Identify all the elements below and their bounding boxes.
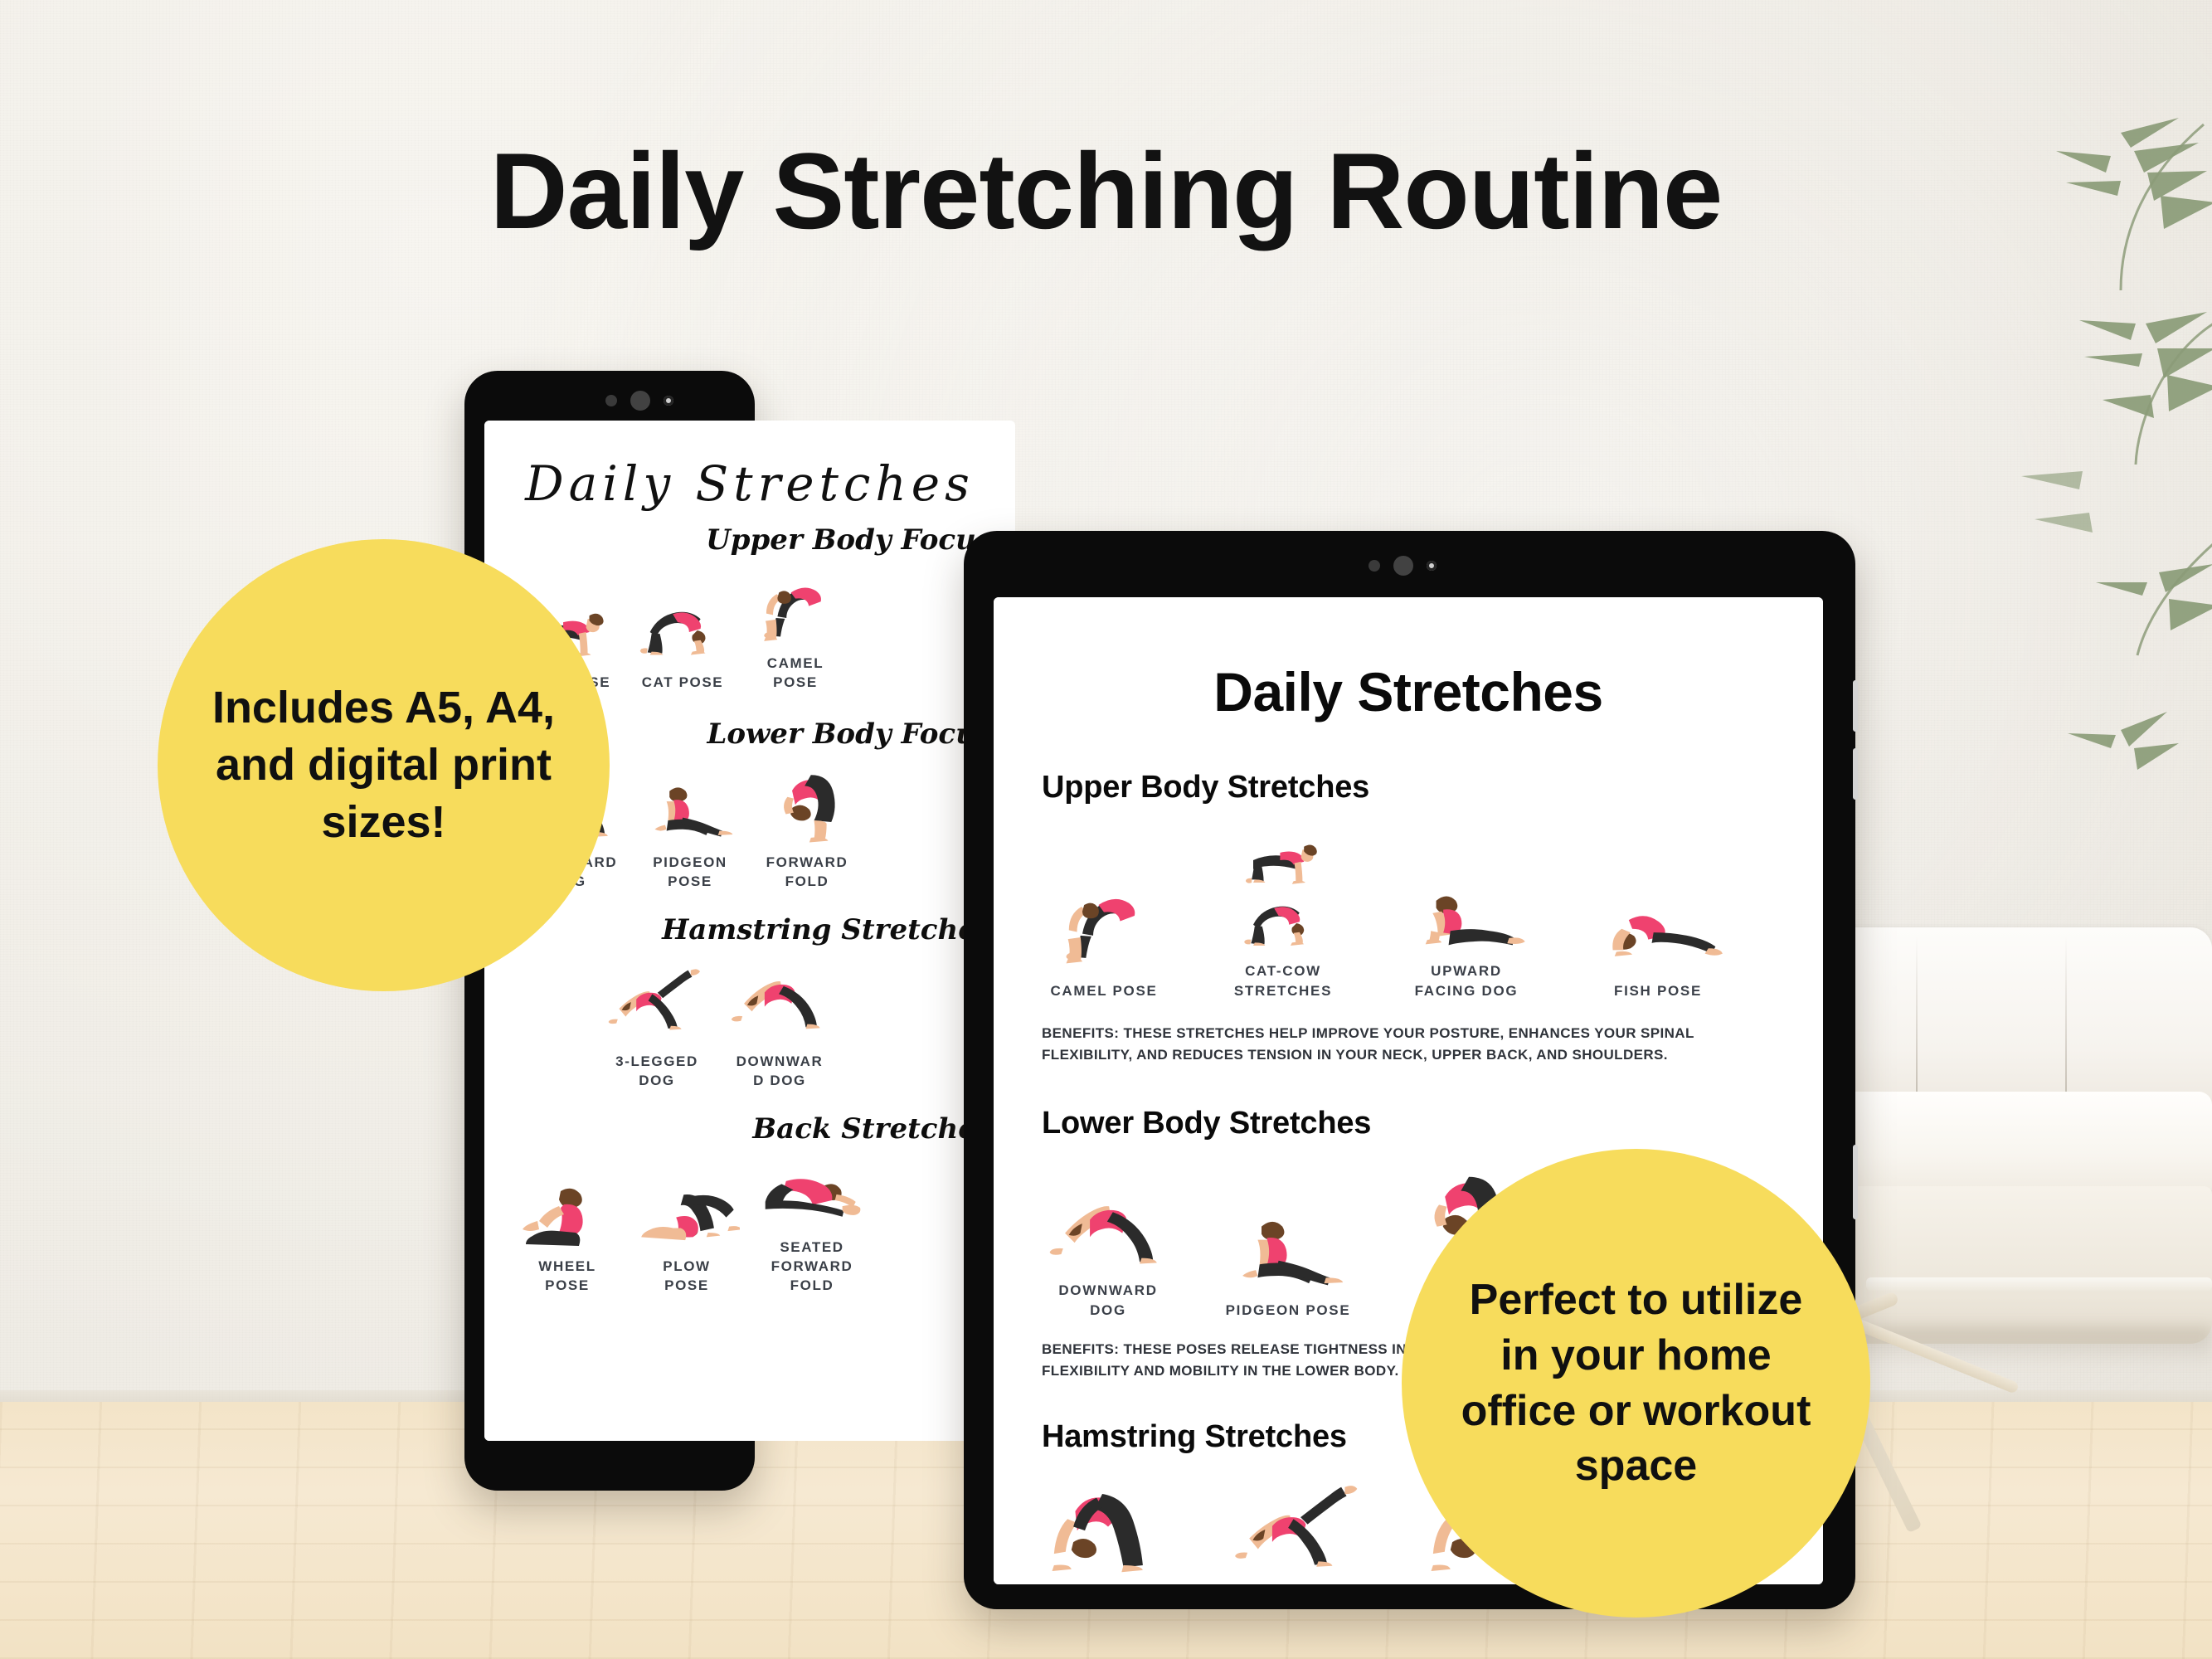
list-item[interactable]: CAMEL POSE: [750, 572, 841, 693]
section-heading: Upper Body Focus: [484, 523, 1015, 557]
back-section-hamstring: Hamstring Stretches 3-LEGGED DOG DOWNWAR…: [484, 913, 1015, 1091]
pose-label: WHEEL POSE: [526, 1258, 609, 1296]
pose-label: UPWARD FACING DOG: [1408, 961, 1524, 1001]
pigeon-pose-art: [639, 774, 741, 844]
list-item[interactable]: 3-LEGGED DOG: [607, 961, 707, 1091]
print-sizes-badge[interactable]: Includes A5, A4, and digital print sizes…: [158, 539, 610, 991]
pose-label: PIDGEON POSE: [644, 854, 736, 892]
three-legged-dog-art: [1233, 1477, 1366, 1583]
pose-label: CAMEL POSE: [750, 654, 841, 693]
usage-badge-label: Perfect to utilize in your home office o…: [1445, 1272, 1827, 1493]
pyramid-pose-art: [1050, 1477, 1166, 1583]
list-item[interactable]: FORWARD FOLD: [761, 764, 853, 892]
sensor-icon: [1369, 560, 1380, 572]
seated-forward-fold-art: [756, 1164, 868, 1224]
camel-pose-art: [751, 572, 840, 649]
plow-pose-art: [634, 1181, 740, 1248]
list-item[interactable]: WHEEL POSE: [518, 1181, 617, 1296]
front-section-upper: Upper Body Stretches CAMEL POSE CAT-COW …: [1042, 770, 1823, 1066]
pose-label: 3-LEGGED DOG: [611, 1053, 702, 1091]
list-item[interactable]: PIDGEON POSE: [1218, 1206, 1359, 1321]
volume-down-button[interactable]: [1853, 748, 1858, 800]
flash-icon: [1427, 561, 1437, 571]
back-section-back: Back Stretches WHEEL POSE PLOW POSE SEAT…: [484, 1112, 1015, 1296]
upward-facing-dog-art: [1404, 877, 1529, 953]
section-heading: Upper Body Stretches: [1042, 770, 1823, 805]
three-legged-dog-art: [607, 961, 707, 1043]
camel-pose-art: [1050, 880, 1158, 973]
list-item[interactable]: FISH POSE: [1587, 898, 1728, 1001]
sensor-icon: [605, 395, 617, 406]
flash-icon: [664, 396, 673, 406]
list-item[interactable]: PYRAMID POSE: [1042, 1477, 1174, 1584]
side-table: [1866, 1277, 2212, 1291]
list-item[interactable]: CAT-COW STRETCHES: [1221, 830, 1345, 1001]
usage-badge[interactable]: Perfect to utilize in your home office o…: [1402, 1149, 1870, 1618]
section-heading: Hamstring Stretches: [484, 913, 1015, 946]
back-sheet: Daily Stretches Upper Body Focus COW POS…: [484, 421, 1015, 1441]
pose-label: CAMEL POSE: [1050, 981, 1157, 1001]
pose-row: CAMEL POSE CAT-COW STRETCHES UPWARD FACI…: [1042, 830, 1823, 1001]
pose-label: DOWNWARD DOG: [1050, 1281, 1166, 1321]
pose-label: SEATED FORWARD FOLD: [766, 1238, 858, 1296]
downward-dog-art: [728, 963, 831, 1038]
downward-dog-art: [1046, 1186, 1170, 1272]
camera-icon: [1393, 556, 1413, 576]
pigeon-pose-art: [1222, 1206, 1354, 1292]
benefits-text: BENEFITS: THESE STRETCHES HELP IMPROVE Y…: [1042, 1023, 1772, 1067]
cat-pose-art: [1230, 893, 1336, 953]
list-item[interactable]: UPWARD FACING DOG: [1400, 877, 1533, 1001]
list-item[interactable]: DOWNWAR D DOG: [728, 963, 831, 1091]
list-item[interactable]: DOWNWARD DOG: [1042, 1186, 1174, 1321]
power-button[interactable]: [1853, 1145, 1858, 1219]
list-item[interactable]: PLOW POSE: [634, 1181, 740, 1296]
page-title: Daily Stretching Routine: [0, 129, 2212, 253]
front-sheet-title: Daily Stretches: [994, 660, 1823, 723]
back-tablet-camera-row: [605, 391, 673, 411]
camera-icon: [630, 391, 650, 411]
fish-pose-art: [1592, 898, 1724, 965]
front-tablet-camera-row: [1369, 556, 1437, 576]
pose-row: WHEEL POSE PLOW POSE SEATED FORWARD FOLD: [484, 1164, 1015, 1296]
cow-pose-art: [1230, 830, 1336, 890]
list-item[interactable]: CAMEL POSE: [1042, 880, 1166, 1001]
print-sizes-badge-label: Includes A5, A4, and digital print sizes…: [207, 679, 560, 851]
pose-label: PIDGEON POSE: [1222, 1301, 1354, 1321]
back-sheet-title: Daily Stretches: [484, 455, 1015, 512]
section-heading: Back Stretches: [484, 1112, 1015, 1146]
pose-label: CAT POSE: [642, 674, 723, 693]
list-item[interactable]: SEATED FORWARD FOLD: [756, 1164, 868, 1296]
list-item[interactable]: 3-LEGGED DOG: [1229, 1477, 1370, 1584]
section-heading: Lower Body Stretches: [1042, 1106, 1823, 1141]
volume-up-button[interactable]: [1853, 680, 1858, 732]
list-item[interactable]: CAT POSE: [634, 597, 732, 693]
pose-label: DOWNWAR D DOG: [734, 1053, 825, 1091]
pose-label: FISH POSE: [1614, 981, 1702, 1001]
list-item[interactable]: PIDGEON POSE: [639, 774, 741, 892]
pose-label: FORWARD FOLD: [761, 854, 853, 892]
pose-label: CAT-COW STRETCHES: [1229, 961, 1337, 1001]
pose-label: PLOW POSE: [641, 1258, 732, 1296]
cat-pose-art: [634, 597, 732, 664]
pose-row: 3-LEGGED DOG DOWNWAR D DOG: [484, 961, 1015, 1091]
wheel-pose-art: [518, 1181, 617, 1248]
forward-fold-art: [767, 764, 847, 850]
